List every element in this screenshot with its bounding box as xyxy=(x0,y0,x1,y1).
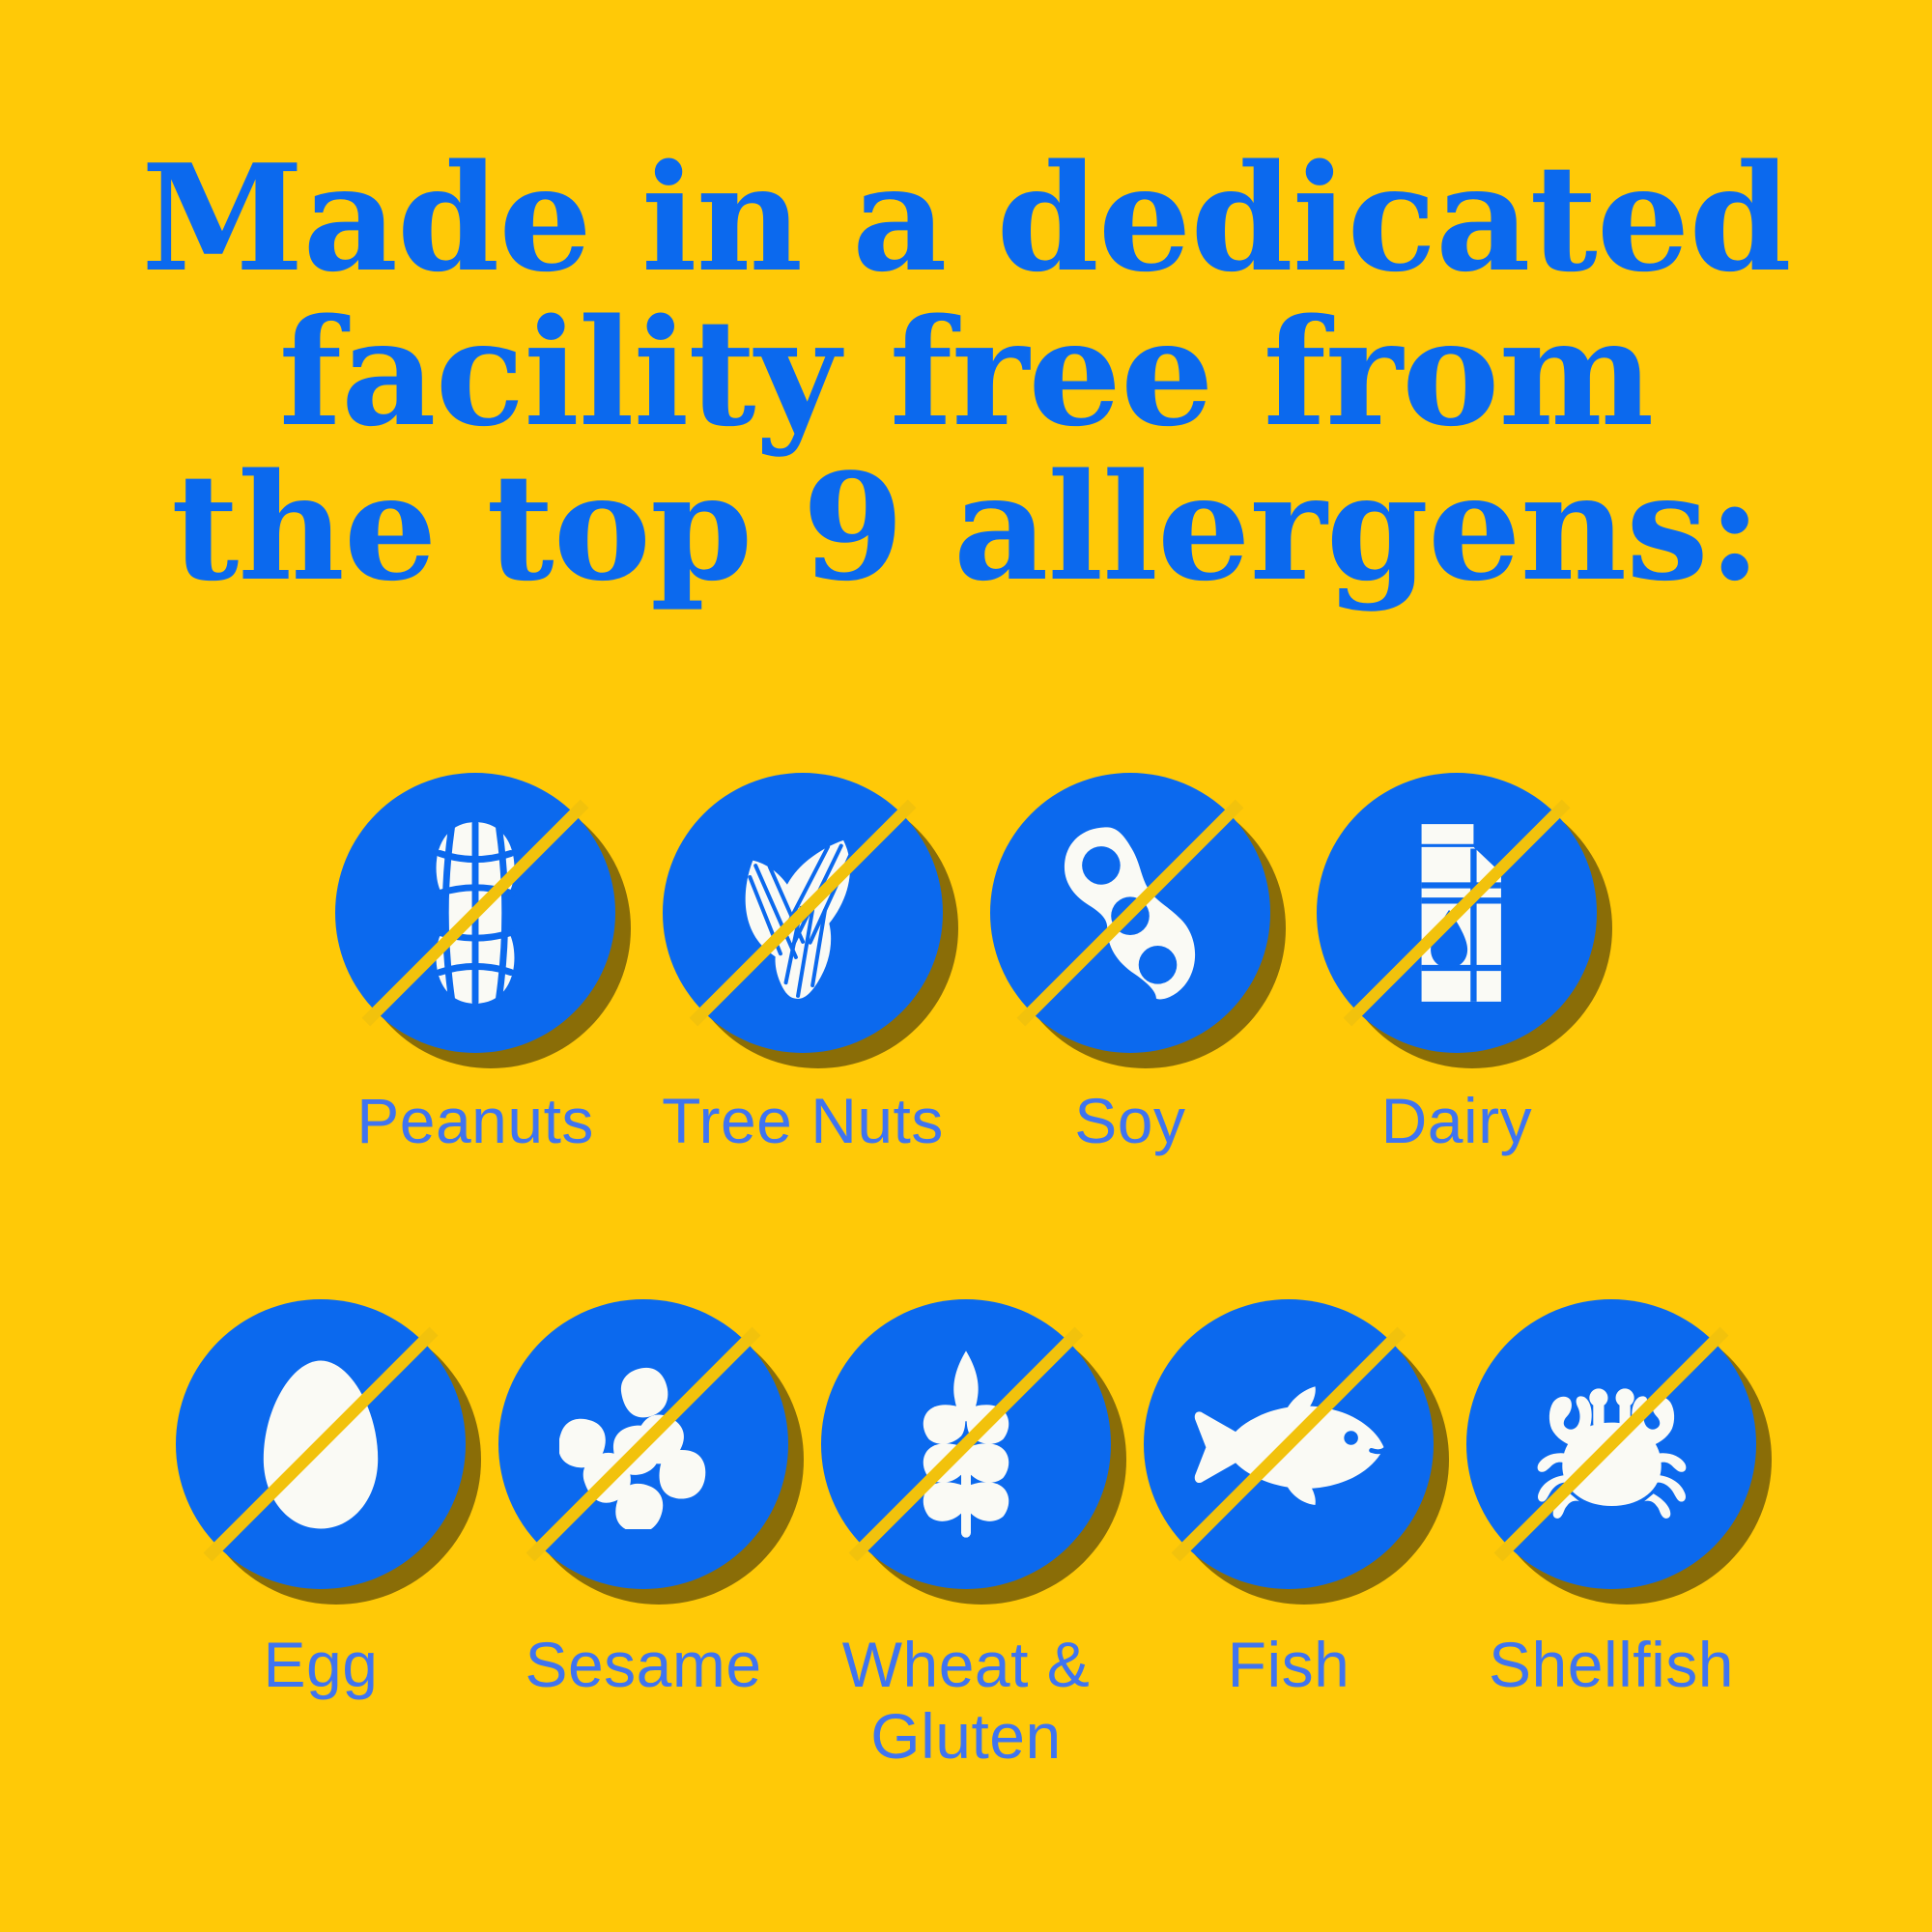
allergen-label: Egg xyxy=(264,1630,379,1701)
badge-disc xyxy=(1144,1299,1434,1589)
badge-soy xyxy=(990,773,1270,1053)
badge-disc xyxy=(498,1299,788,1589)
badge-disc xyxy=(990,773,1270,1053)
peanut-icon xyxy=(335,773,615,1053)
allergen-label: Shellfish xyxy=(1489,1630,1734,1701)
badge-tree-nuts xyxy=(663,773,943,1053)
badge-disc xyxy=(176,1299,466,1589)
allergen-item-shellfish: Shellfish xyxy=(1466,1299,1756,1773)
allergen-item-tree-nuts: Tree Nuts xyxy=(662,773,944,1157)
headline-line-3: the top 9 allergens: xyxy=(0,454,1932,601)
badge-egg xyxy=(176,1299,466,1589)
allergen-item-peanuts: Peanuts xyxy=(335,773,615,1157)
allergen-label: Soy xyxy=(1074,1086,1185,1157)
badge-disc xyxy=(1317,773,1597,1053)
headline-line-2: facility free from xyxy=(0,299,1932,446)
sesame-seeds-icon xyxy=(498,1299,788,1589)
allergen-label: Wheat & Gluten xyxy=(842,1630,1091,1773)
allergen-label: Fish xyxy=(1228,1630,1350,1701)
fish-icon xyxy=(1144,1299,1434,1589)
badge-sesame xyxy=(498,1299,788,1589)
badge-disc xyxy=(821,1299,1111,1589)
allergen-item-sesame: Sesame xyxy=(498,1299,788,1773)
badge-shellfish xyxy=(1466,1299,1756,1589)
allergen-label: Sesame xyxy=(525,1630,761,1701)
page-title: Made in a dedicated facility free from t… xyxy=(0,145,1932,601)
badge-dairy xyxy=(1317,773,1597,1053)
badge-disc xyxy=(663,773,943,1053)
allergen-item-dairy: Dairy xyxy=(1317,773,1597,1157)
badge-disc xyxy=(1466,1299,1756,1589)
allergen-item-wheat-gluten: Wheat & Gluten xyxy=(821,1299,1111,1773)
badge-peanuts xyxy=(335,773,615,1053)
badge-fish xyxy=(1144,1299,1434,1589)
allergen-infographic: Made in a dedicated facility free from t… xyxy=(0,0,1932,1932)
crab-icon xyxy=(1466,1299,1756,1589)
soybean-pod-icon xyxy=(990,773,1270,1053)
allergen-row-2: Egg xyxy=(0,1299,1932,1773)
allergen-item-fish: Fish xyxy=(1144,1299,1434,1773)
allergen-label: Tree Nuts xyxy=(662,1086,944,1157)
allergen-label: Dairy xyxy=(1381,1086,1533,1157)
badge-disc xyxy=(335,773,615,1053)
milk-carton-icon xyxy=(1317,773,1597,1053)
allergen-label: Peanuts xyxy=(356,1086,594,1157)
badge-wheat-gluten xyxy=(821,1299,1111,1589)
wheat-stalk-icon xyxy=(821,1299,1111,1589)
headline-line-1: Made in a dedicated xyxy=(0,145,1932,292)
egg-icon xyxy=(176,1299,466,1589)
allergen-item-egg: Egg xyxy=(176,1299,466,1773)
allergen-item-soy: Soy xyxy=(990,773,1270,1157)
allergen-row-1: Peanuts xyxy=(0,773,1932,1157)
almond-icon xyxy=(663,773,943,1053)
